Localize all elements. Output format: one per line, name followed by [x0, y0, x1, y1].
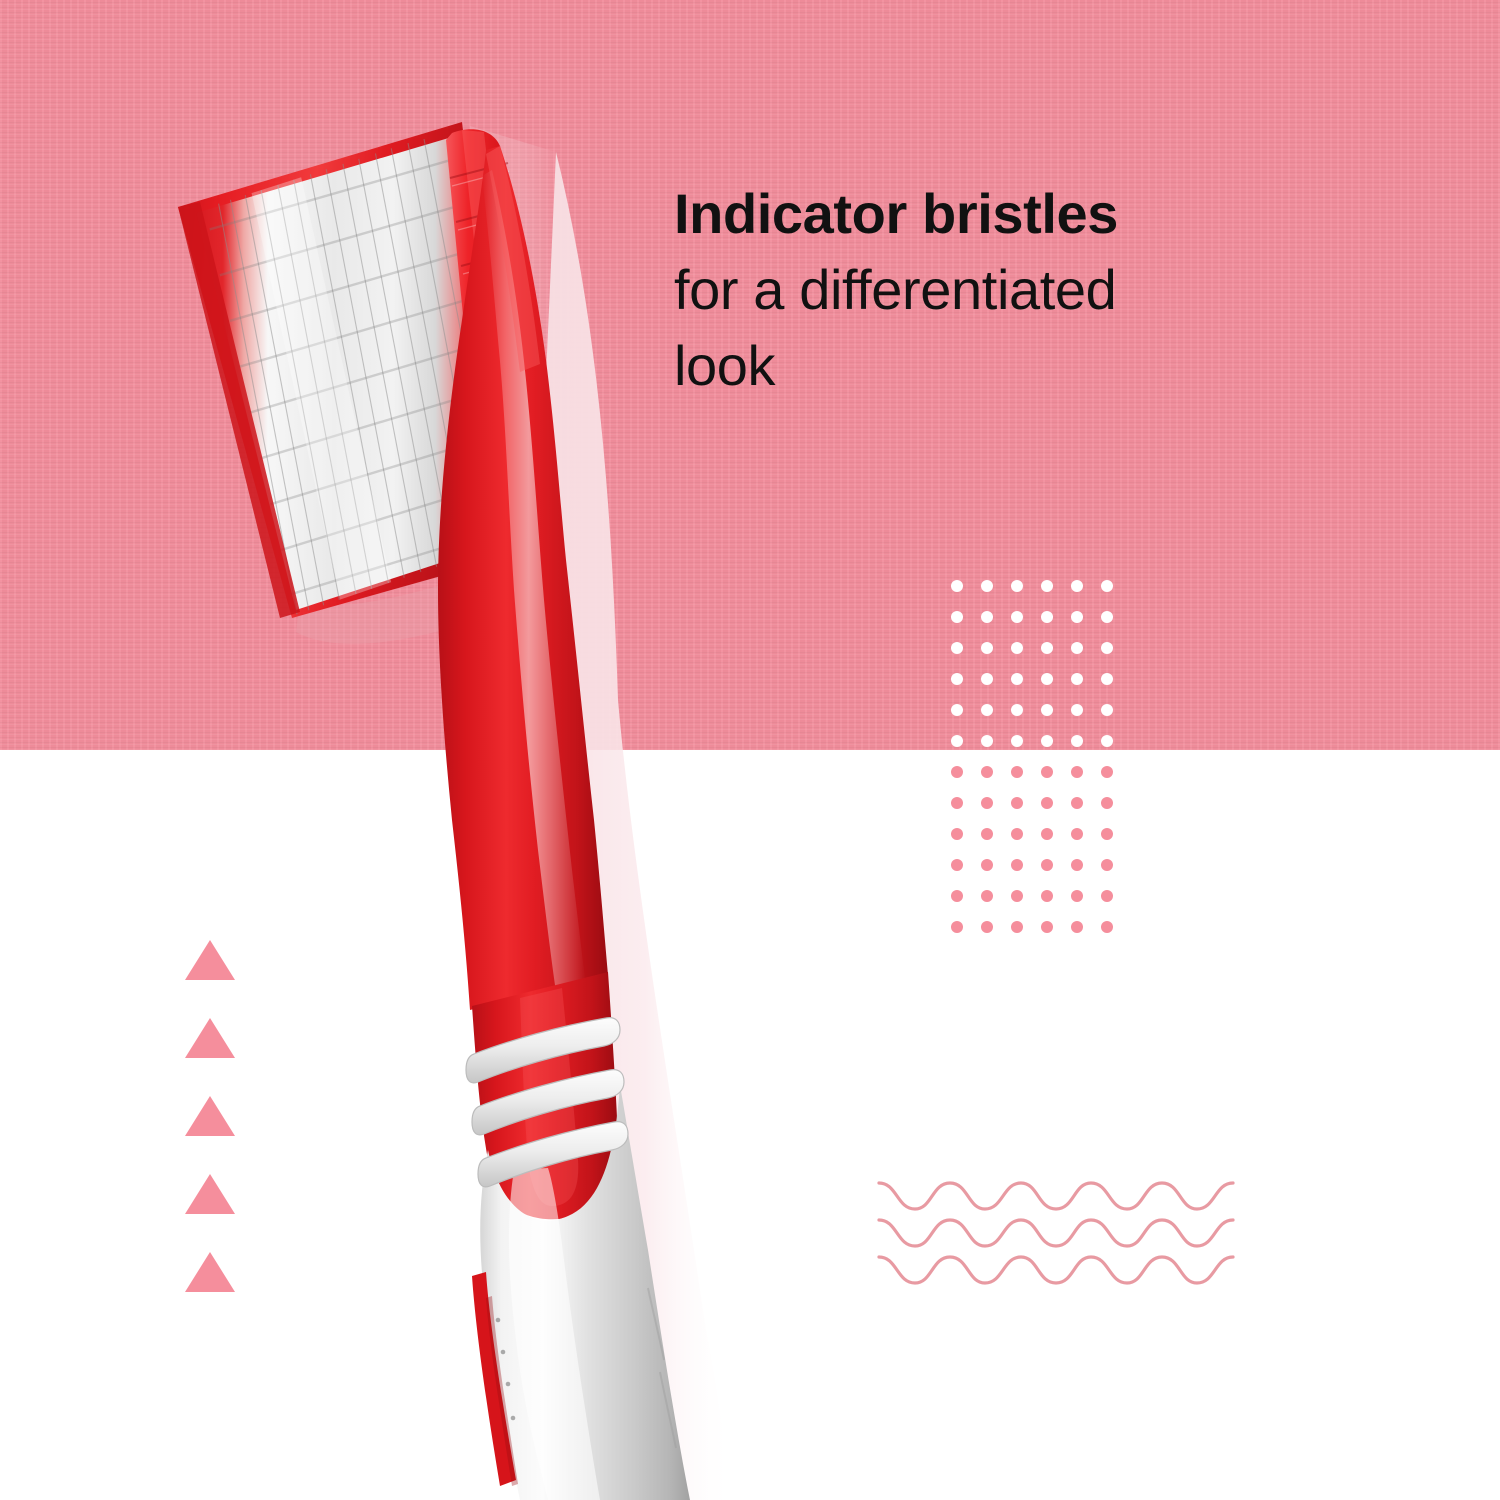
headline-regular-part: for a differentiated look	[674, 258, 1116, 397]
headline: Indicator bristles for a differentiated …	[674, 176, 1144, 404]
headline-bold-part: Indicator bristles	[674, 182, 1118, 245]
poster-canvas: Indicator bristles for a differentiated …	[0, 0, 1500, 1500]
